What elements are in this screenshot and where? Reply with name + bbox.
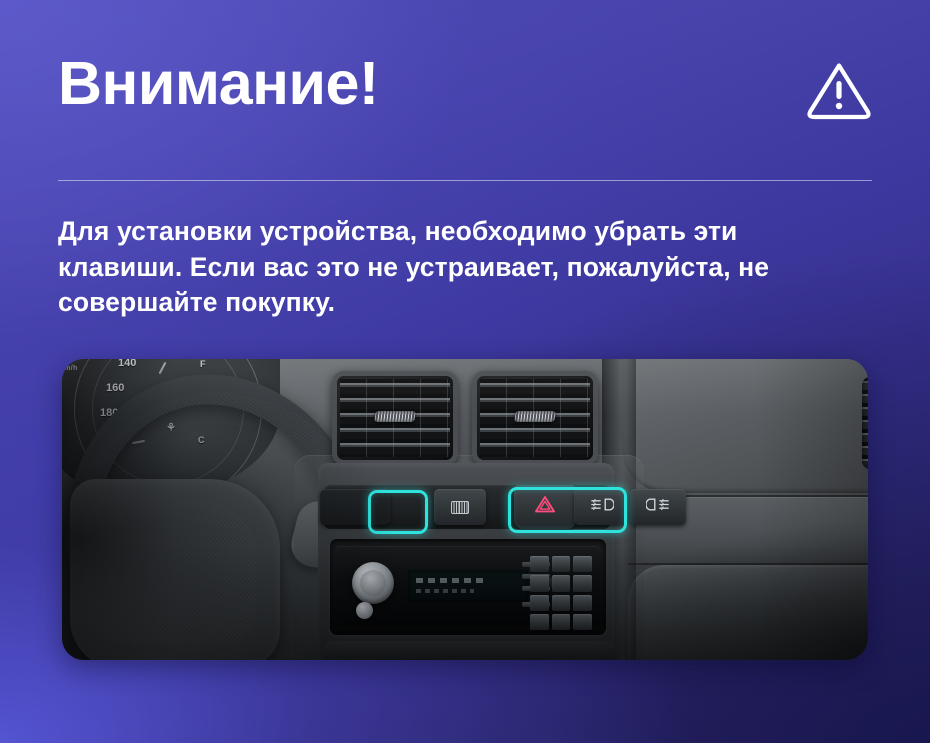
header: Внимание!	[58, 46, 872, 151]
page-title: Внимание!	[58, 46, 379, 120]
warning-body-text: Для установки устройства, необходимо убр…	[58, 214, 858, 321]
slide-canvas: Внимание! Для установки устройства, необ…	[0, 0, 930, 743]
photo-vignette	[62, 359, 868, 660]
warning-triangle-icon	[806, 60, 872, 120]
dashboard-photo: km/h 140 160 180 200 F E C ⚘	[62, 359, 868, 660]
header-divider	[58, 180, 872, 181]
